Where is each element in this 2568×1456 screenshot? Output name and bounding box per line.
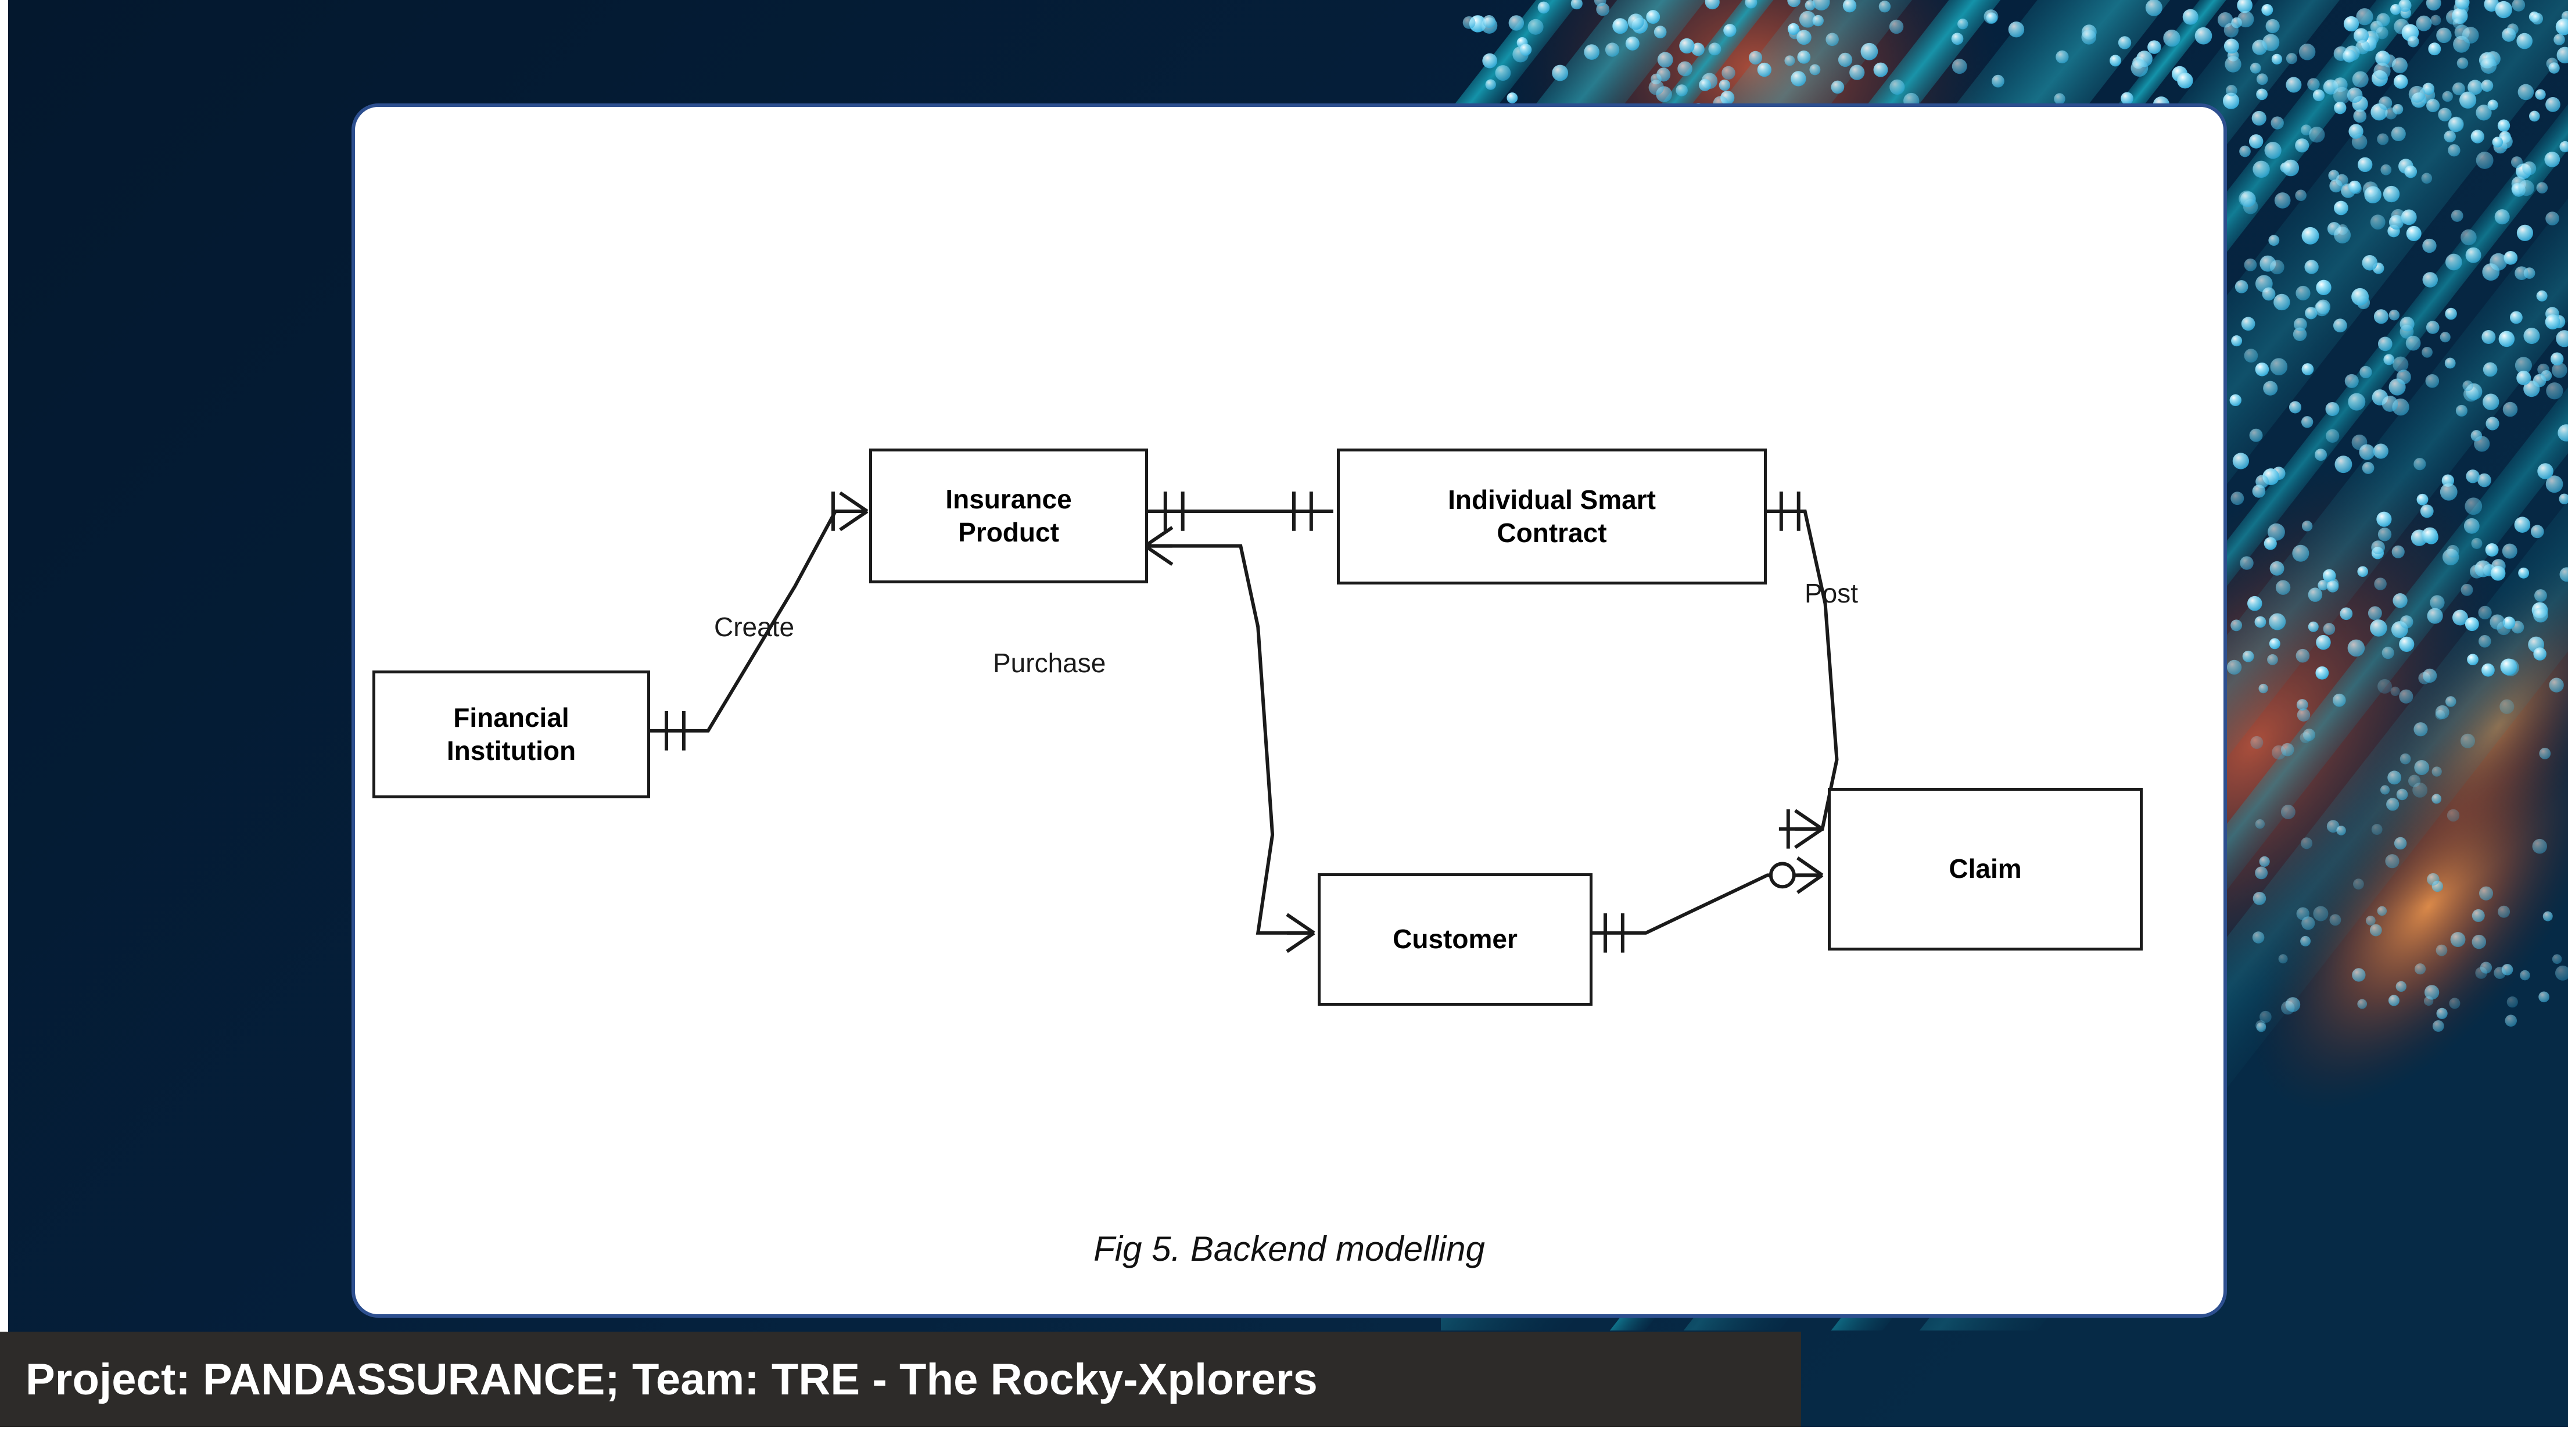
left-edge-strip [0,0,8,1332]
entity-claim[interactable]: Claim [1828,788,2143,951]
entity-customer[interactable]: Customer [1318,873,1593,1006]
footer-bar: Project: PANDASSURANCE; Team: TRE - The … [0,1332,1801,1427]
entity-individual-smart-contract[interactable]: Individual Smart Contract [1337,449,1767,584]
entity-label-line2: Product [958,517,1059,547]
entity-label-line1: Financial [453,702,569,733]
relationship-label-post: Post [1805,578,1858,609]
bottom-white-strip [0,1427,2568,1456]
entity-label-line2: Contract [1497,518,1606,548]
relationship-purchase [1145,528,1314,952]
entity-label-line1: Individual Smart [1448,485,1656,515]
relationship-customer-claim [1588,858,1822,953]
entity-financial-institution[interactable]: Financial Institution [372,670,650,798]
relationship-label-purchase: Purchase [993,647,1106,679]
entity-label-line2: Institution [447,736,576,766]
footer-project-team-text: Project: PANDASSURANCE; Team: TRE - The … [0,1354,1318,1405]
entity-label-line1: Insurance [945,484,1071,514]
entity-label: Claim [1949,852,2021,885]
figure-caption: Fig 5. Backend modelling [355,1229,2223,1269]
slide-content-card: Financial Institution Insurance Product … [352,103,2227,1318]
relationship-post [1762,492,1837,848]
relationship-contract [1145,492,1333,531]
relationship-label-create: Create [714,611,794,643]
entity-label: Customer [1393,923,1518,956]
entity-insurance-product[interactable]: Insurance Product [869,449,1148,583]
